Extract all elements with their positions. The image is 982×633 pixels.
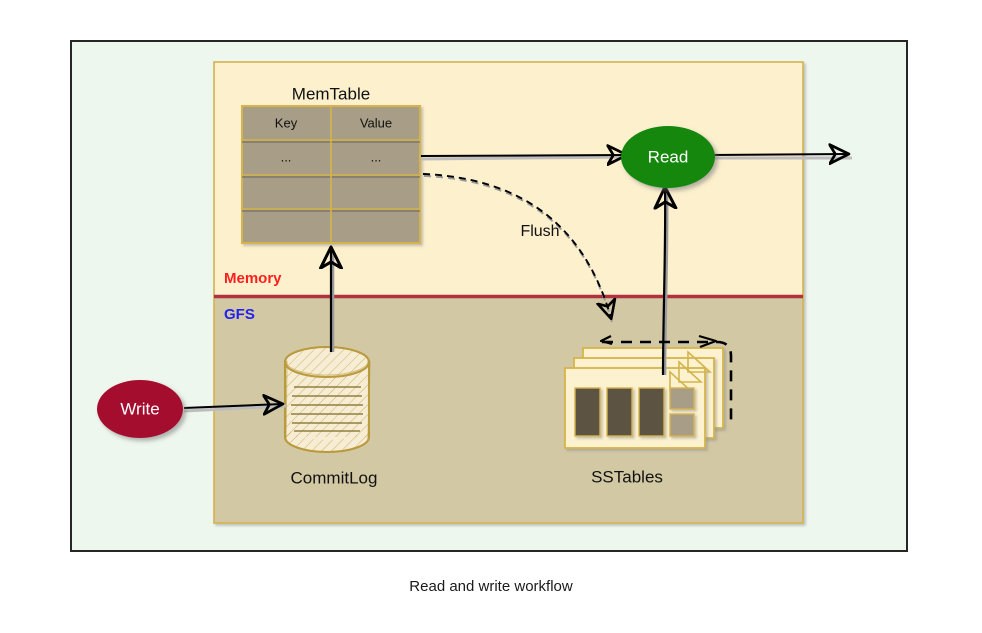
sstables-shape	[565, 348, 723, 448]
commitlog-shape	[285, 347, 370, 452]
commitlog-label: CommitLog	[291, 468, 378, 487]
diagram-svg: MemTable Key Value ... ... Memory GFS Fl…	[0, 0, 982, 633]
memory-zone-label: Memory	[224, 270, 282, 287]
read-node-label: Read	[648, 147, 689, 166]
flush-edge-label: Flush	[520, 223, 559, 240]
gfs-zone-label: GFS	[224, 306, 255, 323]
figure-canvas: MemTable Key Value ... ... Memory GFS Fl…	[0, 0, 982, 633]
edge-commitlog-to-memtable	[331, 248, 333, 352]
memtable-cell-value: ...	[371, 149, 382, 164]
figure-caption: Read and write workflow	[0, 578, 982, 595]
memtable-title: MemTable	[292, 84, 370, 103]
memtable-shape	[242, 106, 420, 243]
memtable-cell-key: ...	[281, 149, 292, 164]
memtable-header-key: Key	[275, 115, 298, 130]
memtable-header-value: Value	[360, 115, 392, 130]
sstables-label: SSTables	[591, 467, 663, 486]
write-node-label: Write	[120, 399, 159, 418]
